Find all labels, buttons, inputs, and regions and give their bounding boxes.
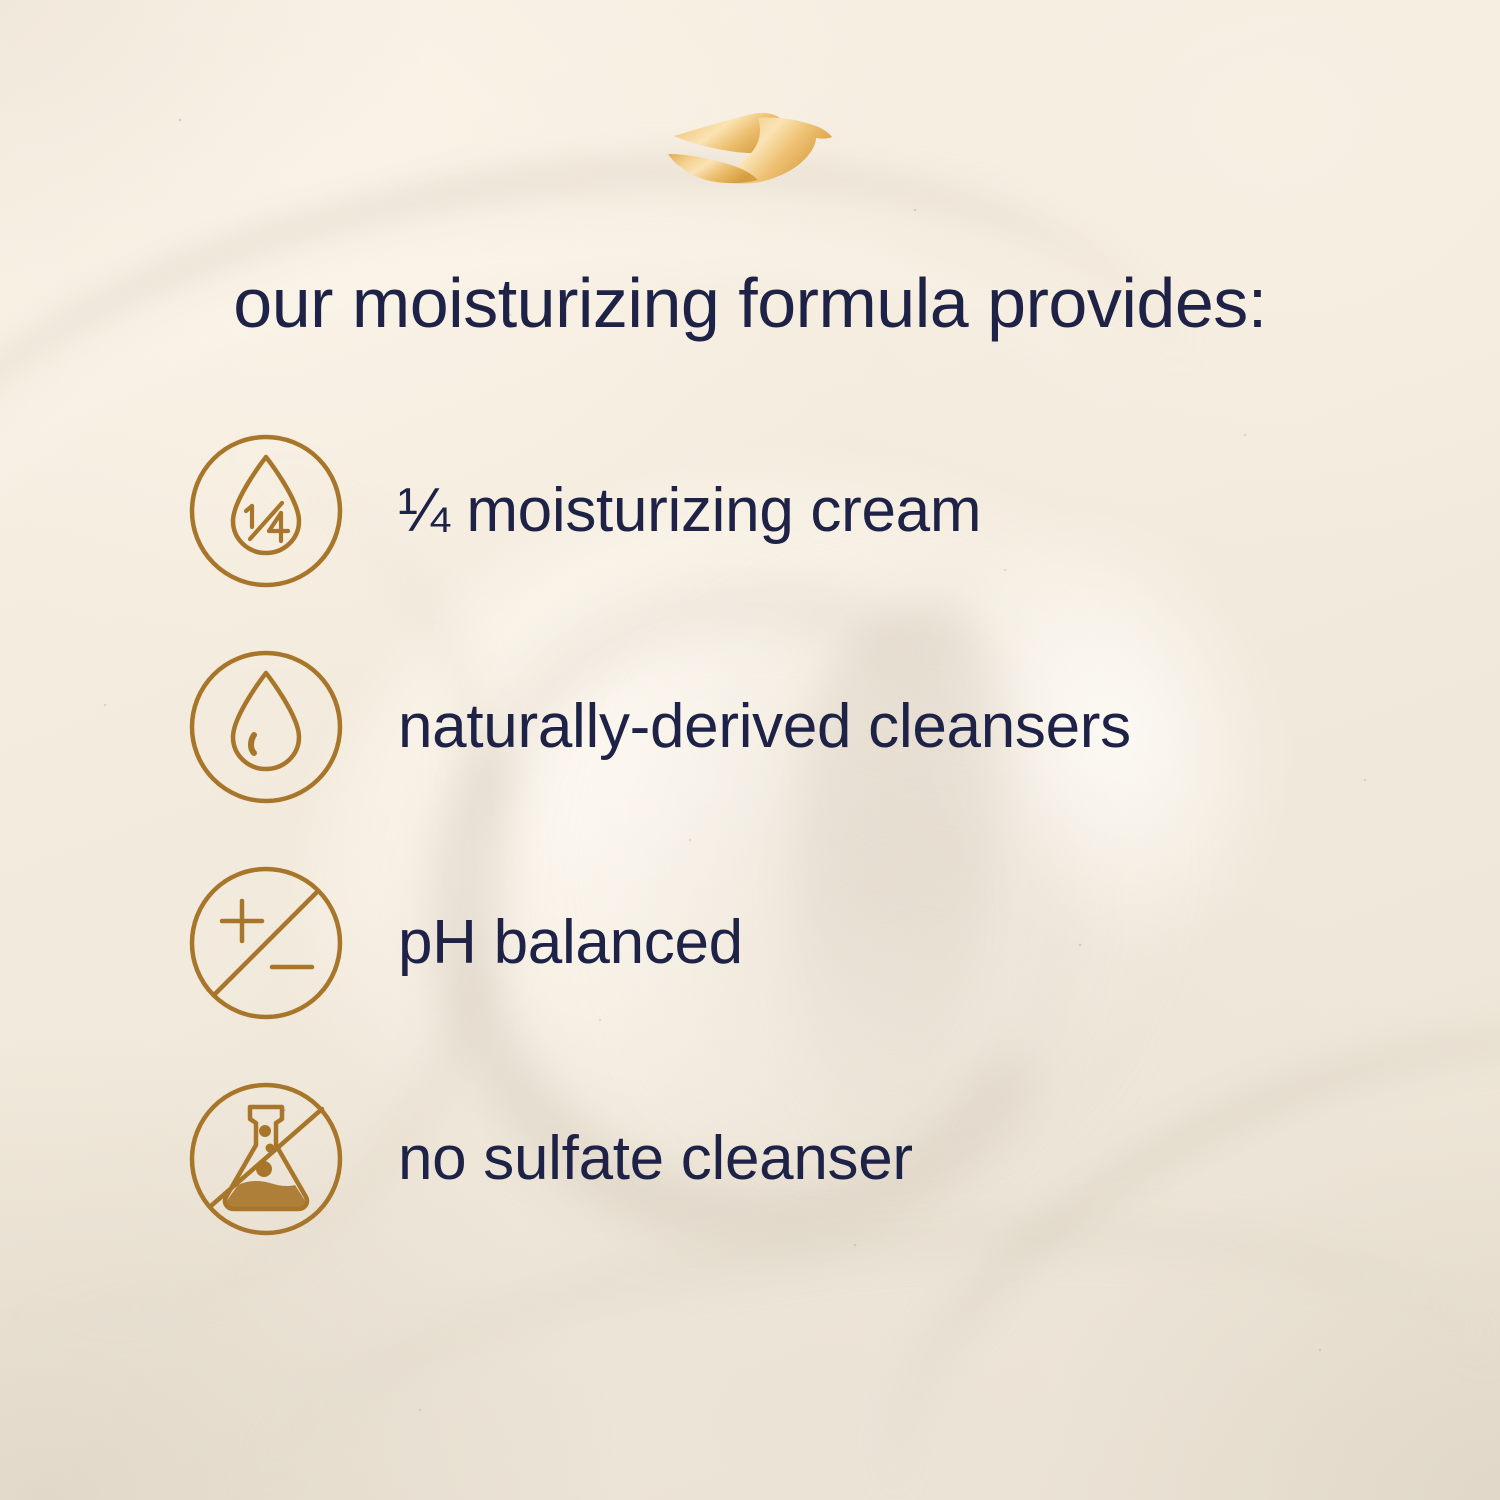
list-item: ¼ moisturizing cream [186,426,1386,596]
product-claims-panel: our moisturizing formula provides: [0,0,1500,1500]
page-title: our moisturizing formula provides: [0,265,1500,342]
list-item: pH balanced [186,858,1386,1028]
ph-balanced-plus-minus-icon [186,863,346,1023]
list-item: no sulfate cleanser [186,1074,1386,1244]
feature-list: ¼ moisturizing cream naturally-derived c… [186,426,1386,1244]
list-item-label: naturally-derived cleansers [398,694,1131,759]
list-item-label: ¼ moisturizing cream [398,478,981,543]
list-item: naturally-derived cleansers [186,642,1386,812]
water-droplet-icon [186,647,346,807]
list-item-label: no sulfate cleanser [398,1126,913,1191]
no-sulfate-flask-crossed-out-icon [186,1079,346,1239]
brand-logo [0,108,1500,186]
list-item-label: pH balanced [398,910,743,975]
dove-bird-logo-icon [666,108,834,186]
quarter-moisturizing-cream-droplet-icon [186,431,346,591]
